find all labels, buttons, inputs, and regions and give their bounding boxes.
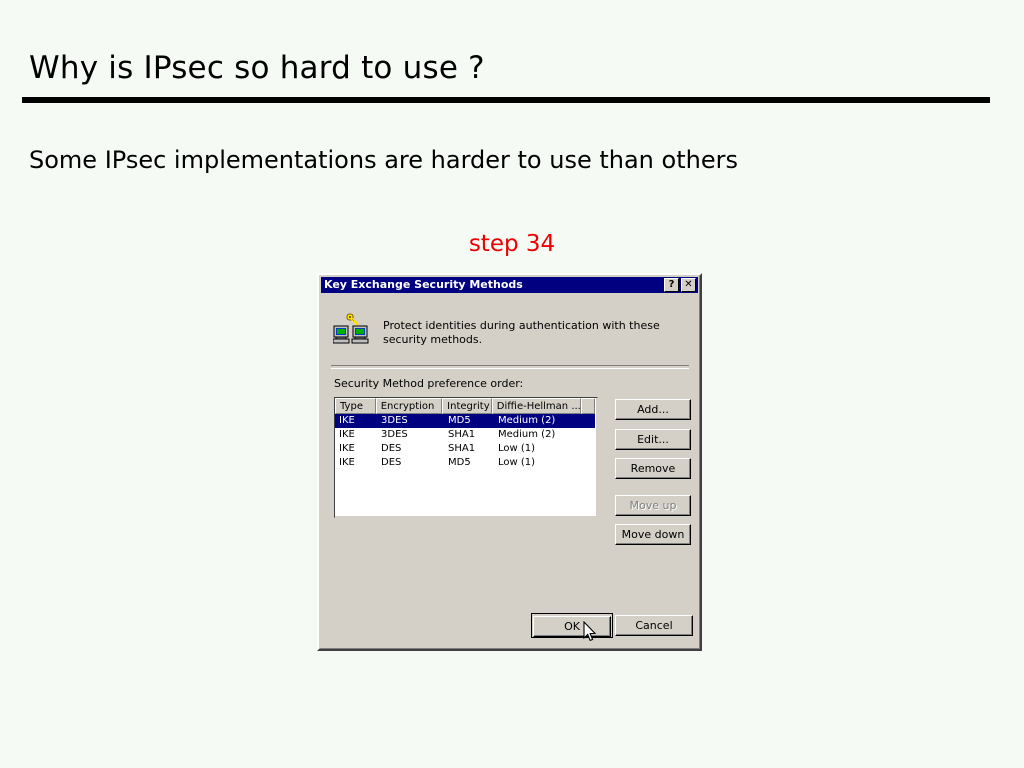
help-button[interactable]: ? — [664, 278, 679, 292]
cell-integrity: MD5 — [444, 414, 494, 428]
cancel-button[interactable]: Cancel — [615, 615, 693, 636]
list-header-row: Type Encryption Integrity Diffie-Hellman… — [335, 398, 595, 414]
move-down-button[interactable]: Move down — [615, 524, 691, 545]
two-computers-with-key-icon — [333, 313, 369, 347]
cell-encryption: 3DES — [377, 414, 444, 428]
security-methods-list[interactable]: Type Encryption Integrity Diffie-Hellman… — [334, 397, 596, 516]
cell-diffie-hellman: Low (1) — [494, 442, 584, 456]
cell-diffie-hellman: Medium (2) — [494, 428, 584, 442]
cell-diffie-hellman: Low (1) — [494, 456, 584, 470]
ok-default-frame: OK — [531, 613, 613, 638]
security-method-preference-order-label: Security Method preference order: — [334, 377, 523, 390]
cell-type: IKE — [335, 428, 377, 442]
cell-encryption: 3DES — [377, 428, 444, 442]
slide-subtitle: Some IPsec implementations are harder to… — [29, 146, 738, 174]
dialog-header: Protect identities during authentication… — [333, 309, 688, 347]
page-title: Why is IPsec so hard to use ? — [29, 50, 485, 86]
cell-type: IKE — [335, 414, 377, 428]
cell-type: IKE — [335, 456, 377, 470]
add-button[interactable]: Add... — [615, 399, 691, 420]
cell-encryption: DES — [377, 442, 444, 456]
table-row[interactable]: IKE DES SHA1 Low (1) — [335, 442, 595, 456]
column-header-integrity[interactable]: Integrity — [442, 398, 492, 414]
column-header-encryption[interactable]: Encryption — [376, 398, 442, 414]
column-header-spacer[interactable] — [581, 398, 595, 414]
step-label: step 34 — [0, 231, 1024, 257]
remove-button[interactable]: Remove — [615, 458, 691, 479]
cell-integrity: SHA1 — [444, 428, 494, 442]
cell-type: IKE — [335, 442, 377, 456]
edit-button[interactable]: Edit... — [615, 429, 691, 450]
cell-integrity: MD5 — [444, 456, 494, 470]
key-exchange-security-methods-dialog: Key Exchange Security Methods ? ✕ — [317, 273, 702, 651]
list-body: IKE 3DES MD5 Medium (2) IKE 3DES SHA1 Me… — [335, 414, 595, 515]
title-divider — [22, 97, 990, 103]
ok-button[interactable]: OK — [533, 616, 611, 637]
table-row[interactable]: IKE 3DES SHA1 Medium (2) — [335, 428, 595, 442]
column-header-type[interactable]: Type — [335, 398, 376, 414]
dialog-description: Protect identities during authentication… — [383, 319, 673, 347]
dialog-titlebar[interactable]: Key Exchange Security Methods ? ✕ — [321, 277, 698, 293]
cell-diffie-hellman: Medium (2) — [494, 414, 584, 428]
column-header-diffie-hellman[interactable]: Diffie-Hellman ... — [492, 398, 581, 414]
dialog-title: Key Exchange Security Methods — [321, 277, 664, 293]
table-row[interactable]: IKE DES MD5 Low (1) — [335, 456, 595, 470]
move-up-button: Move up — [615, 495, 691, 516]
header-divider — [331, 365, 689, 369]
table-row[interactable]: IKE 3DES MD5 Medium (2) — [335, 414, 595, 428]
close-icon[interactable]: ✕ — [681, 278, 696, 292]
cell-encryption: DES — [377, 456, 444, 470]
cell-integrity: SHA1 — [444, 442, 494, 456]
